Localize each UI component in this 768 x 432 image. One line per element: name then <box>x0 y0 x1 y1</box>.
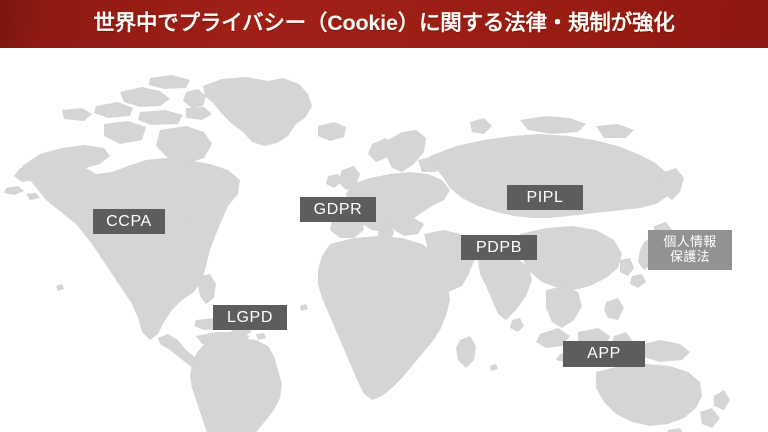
landmass-indochina <box>546 286 582 328</box>
landmass-arctic-isles-6 <box>62 108 92 121</box>
landmass-victoria <box>104 121 146 144</box>
landmass-ireland <box>326 174 342 188</box>
slide-root: 世界中でプライバシー（Cookie）に関する法律・規制が強化 <box>0 0 768 432</box>
map-label-app-text: APP <box>587 345 621 363</box>
landmass-australia <box>596 364 702 426</box>
landmass-madagascar <box>456 336 476 368</box>
map-label-japan-privacy-act[interactable]: 個人情報 保護法 <box>648 230 732 270</box>
landmass-arctic-isles-3 <box>94 102 133 118</box>
landmass-hawaii <box>56 284 64 291</box>
map-label-pipl[interactable]: PIPL <box>507 185 583 210</box>
landmass-siberia-north2 <box>596 124 634 138</box>
landmass-aleutians-1 <box>4 186 24 195</box>
world-map-container: CCPA GDPR PIPL PDPB 個人情報 保護法 LGPD APP <box>0 48 768 432</box>
map-label-gdpr-text: GDPR <box>314 201 363 219</box>
landmass-north-america <box>22 145 240 340</box>
landmass-japan-south <box>630 274 646 288</box>
map-label-lgpd[interactable]: LGPD <box>213 305 287 330</box>
landmass-arctic-isles-2 <box>149 75 190 89</box>
landmass-philippines <box>604 298 624 320</box>
landmass-florida <box>198 274 216 304</box>
landmass-balkans <box>394 218 424 236</box>
landmass-novaya-zemlya <box>470 118 492 134</box>
landmass-arctic-isles-4 <box>138 110 183 125</box>
landmass-greenland-west <box>183 89 206 108</box>
landmass-africa <box>318 236 450 400</box>
map-label-pipl-text: PIPL <box>526 189 563 207</box>
title-bar: 世界中でプライバシー（Cookie）に関する法律・規制が強化 <box>0 0 768 48</box>
map-label-ccpa-text: CCPA <box>106 213 152 231</box>
map-label-japan-line2: 保護法 <box>670 250 710 265</box>
landmass-caribbean-small <box>256 333 266 340</box>
landmass-new-zealand-n <box>714 390 730 410</box>
map-label-ccpa[interactable]: CCPA <box>93 209 165 234</box>
landmass-new-zealand-s <box>700 408 720 428</box>
map-label-gdpr[interactable]: GDPR <box>300 197 376 222</box>
landmass-tasmania <box>666 428 684 432</box>
landmass-siberia-north <box>520 116 586 134</box>
map-label-pdpb-text: PDPB <box>476 239 522 257</box>
landmass-sri-lanka <box>510 318 524 332</box>
map-label-app[interactable]: APP <box>563 341 645 367</box>
landmass-aleutians-2 <box>26 193 40 200</box>
landmass-arctic-isles-1 <box>120 87 170 107</box>
page-title: 世界中でプライバシー（Cookie）に関する法律・規制が強化 <box>93 13 674 35</box>
landmass-arctic-isles-5 <box>186 107 212 120</box>
landmass-island-small-1 <box>490 364 498 371</box>
landmass-iceland <box>318 122 346 141</box>
landmass-india <box>478 256 532 320</box>
landmass-korea <box>620 258 634 276</box>
map-label-lgpd-text: LGPD <box>227 309 273 327</box>
landmass-greenland <box>203 77 312 146</box>
landmass-south-america <box>190 338 282 432</box>
map-label-japan-line1: 個人情報 <box>663 235 716 250</box>
landmass-island-small-2 <box>300 304 308 311</box>
map-label-pdpb[interactable]: PDPB <box>461 235 537 260</box>
